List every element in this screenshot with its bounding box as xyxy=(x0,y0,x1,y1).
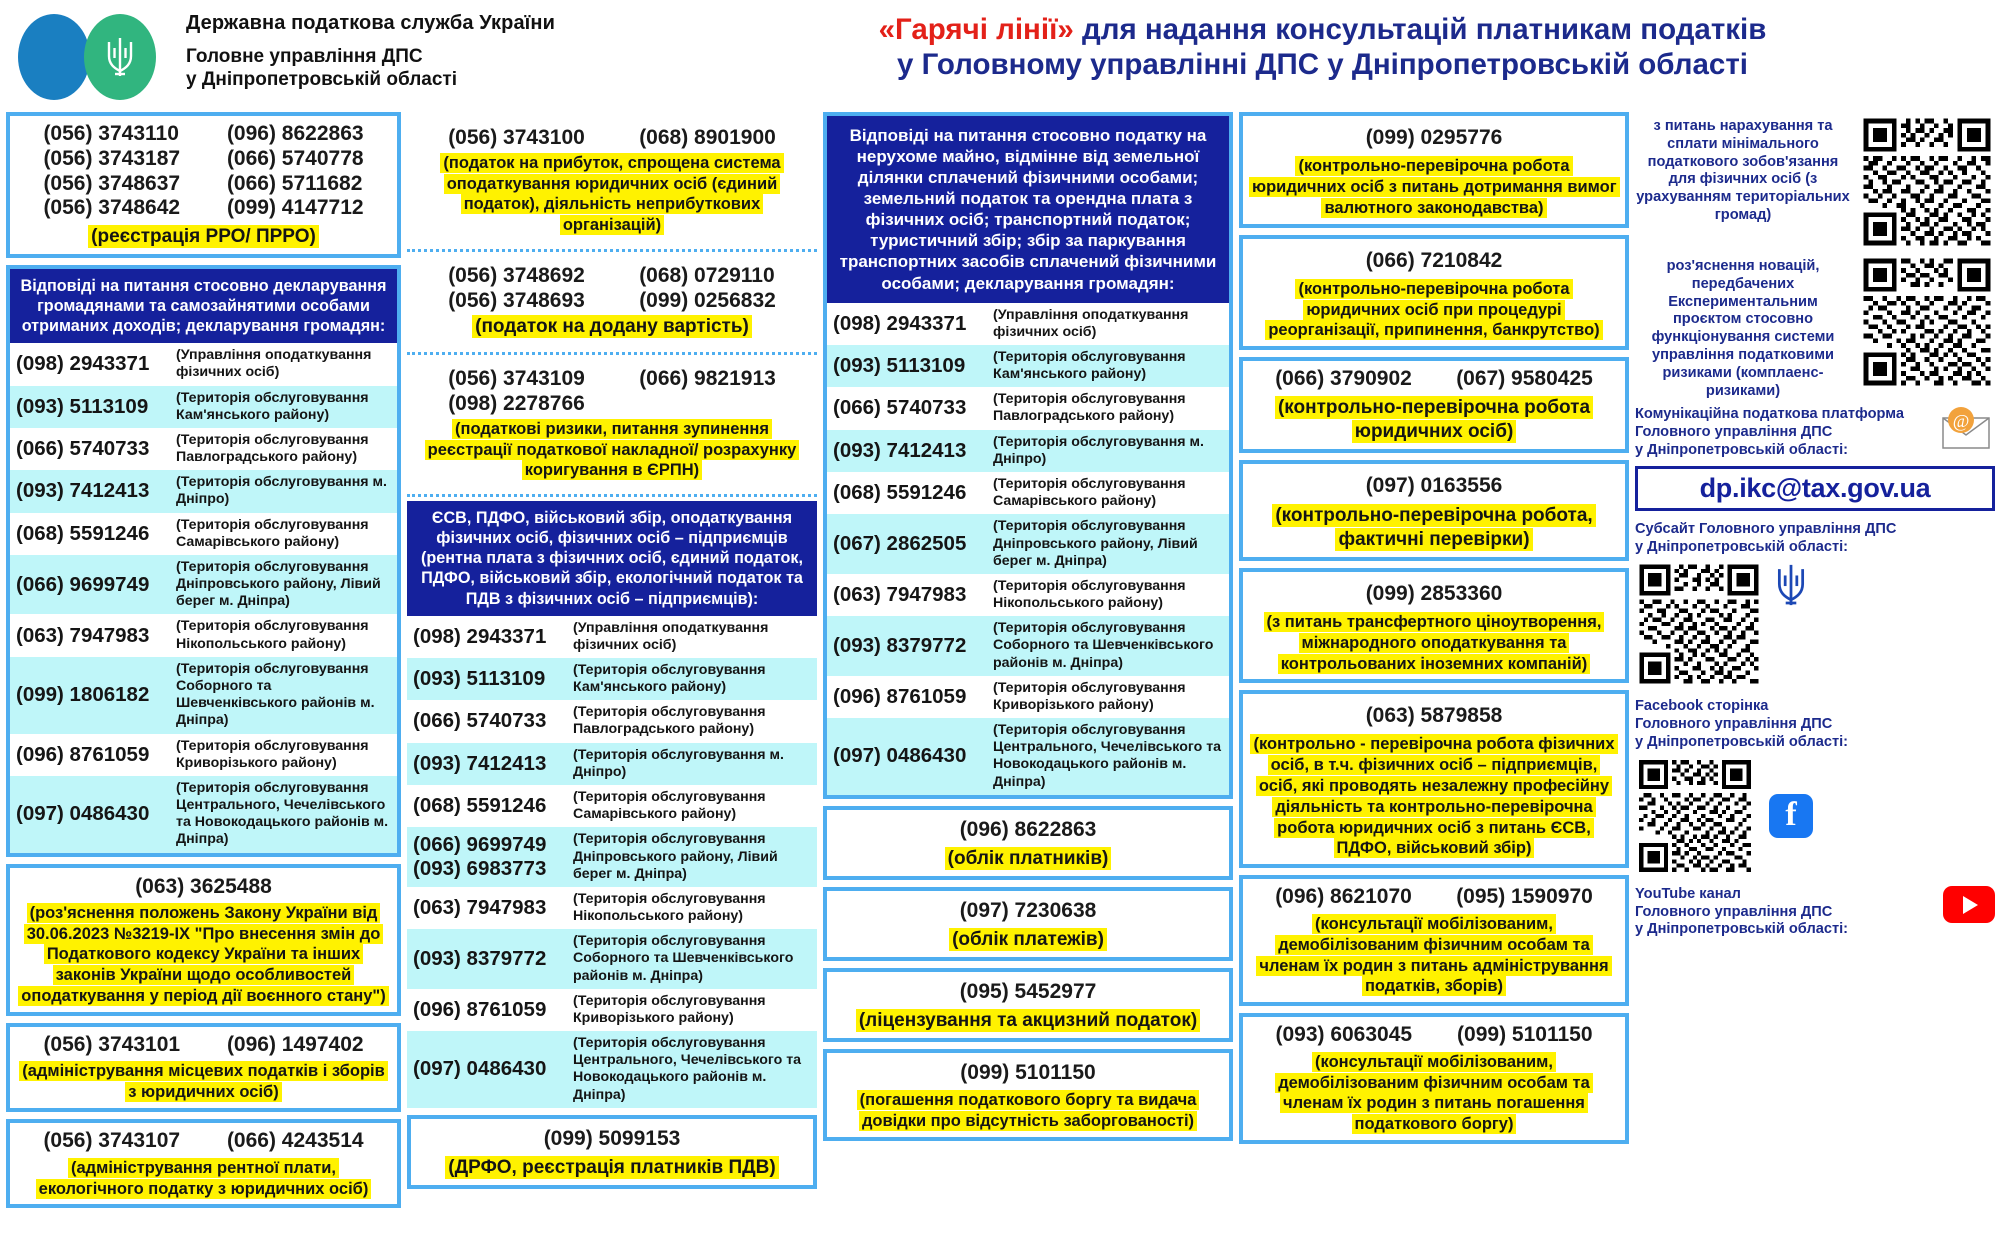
row-description: (Територія обслуговування Кам'янського р… xyxy=(176,390,391,424)
table-row: (093) 7412413(Територія обслуговування м… xyxy=(827,430,1229,472)
table-row: (068) 5591246(Територія обслуговування С… xyxy=(407,785,817,827)
phone-number[interactable]: (099) 1806182 xyxy=(16,683,176,707)
law-card: (063) 3625488 (роз'яснення положень Зако… xyxy=(6,864,401,1016)
subsite-block: Субсайт Головного управління ДПС у Дніпр… xyxy=(1635,521,1995,689)
qr-code-subsite[interactable] xyxy=(1635,560,1763,688)
org-title-line1: Державна податкова служба України xyxy=(186,12,555,35)
qr-compliance-block: роз'яснення новацій, передбачених Експер… xyxy=(1635,254,1995,400)
declaration-card: Відповіді на питання стосовно декларуван… xyxy=(6,265,401,857)
rent-taxes-card: (056) 3743107 (066) 4243514 (адмініструв… xyxy=(6,1119,401,1208)
subsite-text-b: у Дніпропетровській області: xyxy=(1635,539,1995,557)
mobilized-debt-card: (093) 6063045 (099) 5101150 (консультаці… xyxy=(1239,1013,1629,1144)
phone-number[interactable]: (063) 3625488 xyxy=(10,868,397,901)
org-title-line2a: Головне управління ДПС xyxy=(186,45,555,68)
phone-number[interactable]: (099) 2853360 xyxy=(1243,572,1625,610)
email-address[interactable]: dp.ikc@tax.gov.ua xyxy=(1635,466,1995,511)
rro-caption: (реєстрація РРО/ ПРРО) xyxy=(10,223,397,254)
row-description: (Територія обслуговування Криворізького … xyxy=(993,680,1223,714)
table-row: (096) 8761059(Територія обслуговування К… xyxy=(827,676,1229,718)
youtube-text-c: у Дніпропетровській області: xyxy=(1635,921,1933,939)
phone-number[interactable]: (063) 7947983 xyxy=(16,624,176,648)
facebook-block: Facebook сторінка Головного управління Д… xyxy=(1635,698,1995,875)
rro-phones: (056) 3743110 (056) 3743187 (056) 374863… xyxy=(10,116,397,223)
property-tax-card: Відповіді на питання стосовно податку на… xyxy=(823,112,1233,799)
phone-number[interactable]: (056) 3743187 xyxy=(43,147,180,172)
subsite-text-a: Субсайт Головного управління ДПС xyxy=(1635,521,1995,539)
tax-risks-section: (056) 3743109 (098) 2278766 (066) 982191… xyxy=(407,352,817,494)
declaration-header: Відповіді на питання стосовно декларуван… xyxy=(10,269,397,343)
table-row: (098) 2943371(Управління оподаткування ф… xyxy=(827,303,1229,345)
row-description: (Територія обслуговування Соборного та Ш… xyxy=(573,933,811,985)
phone-number[interactable]: (066) 7210842 xyxy=(1243,239,1625,277)
vat-section: (056) 3748692 (056) 3748693 (068) 072911… xyxy=(407,249,817,352)
dotted-divider xyxy=(407,494,817,497)
phone-number[interactable]: (099) 5101150 xyxy=(827,1053,1229,1088)
qr-code-min-tax[interactable] xyxy=(1859,114,1995,250)
phone-number[interactable]: (068) 8901900 xyxy=(639,126,776,151)
rent-phones: (056) 3743107 (066) 4243514 xyxy=(10,1123,397,1156)
phone-number[interactable]: (063) 5879858 xyxy=(1243,694,1625,732)
row-description: (Управління оподаткування фізичних осіб) xyxy=(176,347,391,381)
phone-number[interactable]: (095) 5452977 xyxy=(827,972,1229,1007)
table-row: (093) 7412413(Територія обслуговування м… xyxy=(407,743,817,785)
phone-number[interactable]: (096) 8622863 xyxy=(227,122,364,147)
table-row: (066) 5740733(Територія обслуговування П… xyxy=(407,700,817,742)
phone-number[interactable]: (096) 1497402 xyxy=(227,1033,364,1058)
table-row: (096) 8761059(Територія обслуговування К… xyxy=(407,989,817,1031)
table-row: (068) 5591246(Територія обслуговування С… xyxy=(10,513,397,555)
phone-number[interactable]: (097) 0486430 xyxy=(413,1057,573,1081)
qr-code-compliance[interactable] xyxy=(1859,254,1995,390)
col2-top-sections: (056) 3743100 (068) 8901900 (податок на … xyxy=(407,112,817,1108)
row-description: (Територія обслуговування Соборного та Ш… xyxy=(176,661,391,730)
transfer-pricing-card: (099) 2853360 (з питань трансфертного ці… xyxy=(1239,568,1629,684)
debt-caption: (погашення податкового боргу та видача д… xyxy=(827,1088,1229,1137)
table-row: (066) 5740733(Територія обслуговування П… xyxy=(10,428,397,470)
row-description: (Територія обслуговування Самарівського … xyxy=(176,517,391,551)
phone-number[interactable]: (066) 5740778 xyxy=(227,147,364,172)
phone-number[interactable]: (066) 3790902 xyxy=(1275,367,1412,392)
facebook-text-b: Головного управління ДПС xyxy=(1635,716,1995,734)
qr-min-tax-block: з питань нарахування та сплати мінімальн… xyxy=(1635,114,1995,250)
column-2: (056) 3743100 (068) 8901900 (податок на … xyxy=(407,112,817,1257)
phone-number[interactable]: (066) 5740733 xyxy=(16,437,176,461)
table-row: (098) 2943371(Управління оподаткування ф… xyxy=(407,616,817,658)
phone-number[interactable]: (093) 7412413 xyxy=(16,479,176,503)
legal-entity-control-card: (066) 3790902 (067) 9580425 (контрольно-… xyxy=(1239,357,1629,453)
mobilized-consult-caption: (консультації мобілізованим, демобілізов… xyxy=(1243,912,1625,1002)
table-row: (093) 8379772(Територія обслуговування С… xyxy=(407,929,817,989)
row-description: (Територія обслуговування Дніпровського … xyxy=(573,831,811,883)
phone-number[interactable]: (066) 5740733 xyxy=(833,396,993,420)
phone-number[interactable]: (056) 3748693 xyxy=(448,289,585,314)
phone-number[interactable]: (097) 0486430 xyxy=(833,744,993,768)
row-description: (Територія обслуговування Павлоградськог… xyxy=(993,391,1223,425)
table-row: (093) 5113109(Територія обслуговування К… xyxy=(827,345,1229,387)
table-row: (093) 5113109(Територія обслуговування К… xyxy=(407,658,817,700)
licensing-caption: (ліцензування та акцизний податок) xyxy=(827,1007,1229,1038)
drfo-caption: (ДРФО, реєстрація платників ПДВ) xyxy=(411,1154,813,1185)
phone-number[interactable]: (068) 0729110 xyxy=(639,264,776,289)
phone-number[interactable]: (098) 2278766 xyxy=(448,392,585,417)
declaration-rows: (098) 2943371(Управління оподаткування ф… xyxy=(10,343,397,852)
phone-number[interactable]: (093) 6063045 xyxy=(1275,1023,1412,1048)
col3-blue-header: Відповіді на питання стосовно податку на… xyxy=(827,116,1229,303)
org-name: Державна податкова служба України Головн… xyxy=(186,12,555,91)
row-description: (Територія обслуговування м. Дніпро) xyxy=(176,474,391,508)
title-quoted: «Гарячі лінії» xyxy=(879,13,1074,46)
platform-text-a: Комунікаційна податкова платформа xyxy=(1635,406,1933,424)
phone-number[interactable]: (066) 5711682 xyxy=(227,172,364,197)
qr-min-tax-text: з питань нарахування та сплати мінімальн… xyxy=(1635,114,1851,225)
taxpayer-registry-card: (096) 8622863 (облік платників) xyxy=(823,806,1233,880)
phone-number[interactable]: (099) 0295776 xyxy=(1243,116,1625,154)
table-row: (099) 1806182(Територія обслуговування С… xyxy=(10,657,397,734)
row-description: (Територія обслуговування Нікопольського… xyxy=(176,618,391,652)
currency-control-caption: (контрольно-перевірочна робота юридичних… xyxy=(1243,154,1625,223)
facebook-icon[interactable]: f xyxy=(1769,794,1813,838)
svg-text:@: @ xyxy=(1953,411,1970,431)
phone-number[interactable]: (068) 5591246 xyxy=(833,481,993,505)
taxpayer-registry-caption: (облік платників) xyxy=(827,845,1229,876)
phone-number[interactable]: (056) 3743110 xyxy=(43,122,180,147)
table-row: (096) 8761059(Територія обслуговування К… xyxy=(10,734,397,776)
phone-number[interactable]: (056) 3743107 xyxy=(43,1129,180,1154)
row-description: (Територія обслуговування Дніпровського … xyxy=(176,559,391,611)
row-description: (Територія обслуговування м. Дніпро) xyxy=(993,434,1223,468)
table-row: (063) 7947983(Територія обслуговування Н… xyxy=(10,614,397,656)
row-description: (Територія обслуговування Нікопольського… xyxy=(573,891,811,925)
local-caption: (адміністрування місцевих податків і збо… xyxy=(10,1059,397,1108)
table-row: (063) 7947983(Територія обслуговування Н… xyxy=(827,574,1229,616)
payments-registry-card: (097) 7230638 (облік платежів) xyxy=(823,887,1233,961)
table-row: (066) 5740733(Територія обслуговування П… xyxy=(827,387,1229,429)
licensing-card: (095) 5452977 (ліцензування та акцизний … xyxy=(823,968,1233,1042)
row-description: (Управління оподаткування фізичних осіб) xyxy=(573,620,811,654)
qr-code-facebook[interactable] xyxy=(1635,756,1755,876)
table-row: (097) 0486430(Територія обслуговування Ц… xyxy=(407,1031,817,1108)
row-description: (Територія обслуговування Павлоградськог… xyxy=(176,432,391,466)
law-caption: (роз'яснення положень Закону України від… xyxy=(10,901,397,1012)
table-row: (066) 9699749 (093) 6983773(Територія об… xyxy=(407,827,817,887)
platform-text-b: Головного управління ДПС xyxy=(1635,424,1933,442)
youtube-text-b: Головного управління ДПС xyxy=(1635,904,1933,922)
logo-blue-circle-icon xyxy=(18,14,90,100)
phone-number[interactable]: (097) 0486430 xyxy=(16,802,176,826)
row-description: (Територія обслуговування м. Дніпро) xyxy=(573,747,811,781)
payments-registry-caption: (облік платежів) xyxy=(827,926,1229,957)
row-description: (Територія обслуговування Нікопольського… xyxy=(993,578,1223,612)
table-row: (067) 2862505(Територія обслуговування Д… xyxy=(827,514,1229,574)
column-4: (099) 0295776 (контрольно-перевірочна ро… xyxy=(1239,112,1629,1257)
phone-number[interactable]: (066) 5740733 xyxy=(413,709,573,733)
row-description: (Територія обслуговування Самарівського … xyxy=(573,789,811,823)
phone-number[interactable]: (093) 5113109 xyxy=(413,667,573,691)
legal-entity-control-caption: (контрольно-перевірочна робота юридичних… xyxy=(1243,394,1625,449)
row-description: (Територія обслуговування Соборного та Ш… xyxy=(993,620,1223,672)
platform-block: Комунікаційна податкова платформа Головн… xyxy=(1635,406,1995,459)
phone-number[interactable]: (063) 7947983 xyxy=(413,896,573,920)
facebook-text-c: у Дніпропетровській області: xyxy=(1635,734,1995,752)
title-rest: для надання консультацій платникам подат… xyxy=(1074,13,1767,46)
table-row: (097) 0486430(Територія обслуговування Ц… xyxy=(10,776,397,853)
logo-green-circle-icon xyxy=(84,14,156,100)
row-description: (Територія обслуговування Центрального, … xyxy=(993,722,1223,791)
youtube-text-a: YouTube канал xyxy=(1635,886,1933,904)
phone-number[interactable]: (093) 7412413 xyxy=(413,752,573,776)
phone-number[interactable]: (093) 8379772 xyxy=(833,634,993,658)
facebook-text-a: Facebook сторінка xyxy=(1635,698,1995,716)
reorganization-control-caption: (контрольно-перевірочна робота юридичних… xyxy=(1243,277,1625,346)
phone-number[interactable]: (097) 7230638 xyxy=(827,891,1229,926)
table-row: (093) 7412413(Територія обслуговування м… xyxy=(10,470,397,512)
phone-number[interactable]: (099) 4147712 xyxy=(227,196,364,221)
phone-number[interactable]: (067) 2862505 xyxy=(833,532,993,556)
phone-number[interactable]: (095) 1590970 xyxy=(1456,885,1593,910)
transfer-pricing-caption: (з питань трансфертного ціноутворення, м… xyxy=(1243,610,1625,679)
email-icon: @ xyxy=(1939,406,1995,452)
qr-compliance-text: роз'яснення новацій, передбачених Експер… xyxy=(1635,254,1851,400)
phone-number[interactable]: (093) 5113109 xyxy=(833,354,993,378)
phone-number[interactable]: (099) 5101150 xyxy=(1457,1023,1592,1048)
phone-number[interactable]: (056) 3748642 xyxy=(43,196,180,221)
logo xyxy=(18,10,178,102)
individual-control-caption: (контрольно - перевірочна робота фізични… xyxy=(1243,732,1625,864)
phone-number[interactable]: (068) 5591246 xyxy=(16,522,176,546)
phone-number[interactable]: (098) 2943371 xyxy=(16,352,176,376)
mobilized-consult-card: (096) 8621070 (095) 1590970 (консультаці… xyxy=(1239,875,1629,1006)
column-1: (056) 3743110 (056) 3743187 (056) 374863… xyxy=(6,112,401,1257)
phone-number[interactable]: (099) 5099153 xyxy=(411,1119,813,1154)
phone-number[interactable]: (056) 3743100 xyxy=(448,126,585,151)
row-description: (Територія обслуговування Павлоградськог… xyxy=(573,704,811,738)
phone-number[interactable]: (096) 8621070 xyxy=(1275,885,1412,910)
row-description: (Територія обслуговування Дніпровського … xyxy=(993,518,1223,570)
platform-text-c: у Дніпропетровській області: xyxy=(1635,442,1933,460)
profit-tax-section: (056) 3743100 (068) 8901900 (податок на … xyxy=(407,112,817,249)
table-row: (097) 0486430(Територія обслуговування Ц… xyxy=(827,718,1229,795)
mobilized-debt-caption: (консультації мобілізованим, демобілізов… xyxy=(1243,1050,1625,1140)
row-description: (Територія обслуговування Криворізького … xyxy=(573,993,811,1027)
tryzub-emblem-icon xyxy=(1773,560,1809,610)
column-5-sidebar: з питань нарахування та сплати мінімальн… xyxy=(1635,112,1995,1257)
phone-number[interactable]: (098) 2943371 xyxy=(833,312,993,336)
phone-number[interactable]: (067) 9580425 xyxy=(1456,367,1593,392)
table-row: (098) 2943371(Управління оподаткування ф… xyxy=(10,343,397,385)
table-row: (066) 9699749(Територія обслуговування Д… xyxy=(10,555,397,615)
org-title-line2b: у Дніпропетровській області xyxy=(186,68,555,91)
phone-number[interactable]: (099) 0256832 xyxy=(639,289,776,314)
phone-number[interactable]: (096) 8761059 xyxy=(16,743,176,767)
phone-number[interactable]: (056) 3748637 xyxy=(43,172,180,197)
row-description: (Територія обслуговування Криворізького … xyxy=(176,738,391,772)
vat-caption: (податок на додану вартість) xyxy=(411,313,813,344)
table-row: (063) 7947983(Територія обслуговування Н… xyxy=(407,887,817,929)
local-taxes-card: (056) 3743101 (096) 1497402 (адмініструв… xyxy=(6,1023,401,1112)
phone-number[interactable]: (066) 9699749 (093) 6983773 xyxy=(413,833,573,881)
row-description: (Територія обслуговування Центрального, … xyxy=(573,1035,811,1104)
youtube-block: YouTube канал Головного управління ДПС у… xyxy=(1635,886,1995,939)
phone-number[interactable]: (056) 3743109 xyxy=(448,367,585,392)
table-row: (093) 5113109(Територія обслуговування К… xyxy=(10,386,397,428)
reorganization-control-card: (066) 7210842 (контрольно-перевірочна ро… xyxy=(1239,235,1629,351)
phone-number[interactable]: (096) 8622863 xyxy=(827,810,1229,845)
drfo-card: (099) 5099153 (ДРФО, реєстрація платникі… xyxy=(407,1115,817,1189)
individual-control-card: (063) 5879858 (контрольно - перевірочна … xyxy=(1239,690,1629,868)
row-description: (Територія обслуговування Центрального, … xyxy=(176,780,391,849)
local-phones: (056) 3743101 (096) 1497402 xyxy=(10,1027,397,1060)
row-description: (Територія обслуговування Кам'янського р… xyxy=(993,349,1223,383)
col2-rows: (098) 2943371(Управління оподаткування ф… xyxy=(407,616,817,1108)
table-row: (068) 5591246(Територія обслуговування С… xyxy=(827,472,1229,514)
phone-number[interactable]: (098) 2943371 xyxy=(413,625,573,649)
phone-number[interactable]: (096) 8761059 xyxy=(833,685,993,709)
infographic-page: Державна податкова служба України Головн… xyxy=(0,0,2000,1257)
phone-number[interactable]: (063) 7947983 xyxy=(833,583,993,607)
currency-control-card: (099) 0295776 (контрольно-перевірочна ро… xyxy=(1239,112,1629,228)
actual-checks-caption: (контрольно-перевірочна робота, фактичні… xyxy=(1243,502,1625,557)
col3-rows: (098) 2943371(Управління оподаткування ф… xyxy=(827,303,1229,795)
phone-number[interactable]: (093) 7412413 xyxy=(833,439,993,463)
row-description: (Територія обслуговування Самарівського … xyxy=(993,476,1223,510)
row-description: (Територія обслуговування Кам'янського р… xyxy=(573,662,811,696)
phone-number[interactable]: (056) 3748692 xyxy=(448,264,585,289)
col2-blue-header: ЄСВ, ПДФО, військовий збір, оподаткуванн… xyxy=(407,501,817,615)
tryzub-icon xyxy=(103,34,137,80)
table-row: (093) 8379772(Територія обслуговування С… xyxy=(827,616,1229,676)
youtube-icon[interactable] xyxy=(1943,886,1995,923)
page-header: Державна податкова служба України Головн… xyxy=(0,0,2000,112)
row-description: (Управління оподаткування фізичних осіб) xyxy=(993,307,1223,341)
title-line2: у Головному управлінні ДПС у Дніпропетро… xyxy=(650,47,1995,82)
actual-checks-card: (097) 0163556 (контрольно-перевірочна ро… xyxy=(1239,460,1629,561)
debt-card: (099) 5101150 (погашення податкового бор… xyxy=(823,1049,1233,1141)
phone-number[interactable]: (097) 0163556 xyxy=(1243,464,1625,502)
page-title: «Гарячі лінії» для надання консультацій … xyxy=(650,12,1995,83)
phone-number[interactable]: (066) 9821913 xyxy=(639,367,776,392)
profit-tax-caption: (податок на прибуток, спрощена система о… xyxy=(411,151,813,241)
phone-number[interactable]: (066) 4243514 xyxy=(227,1129,364,1154)
phone-number[interactable]: (056) 3743101 xyxy=(43,1033,180,1058)
tax-risks-caption: (податкові ризики, питання зупинення реє… xyxy=(411,417,813,486)
phone-number[interactable]: (068) 5591246 xyxy=(413,794,573,818)
phone-number[interactable]: (093) 8379772 xyxy=(413,947,573,971)
columns-area: (056) 3743110 (056) 3743187 (056) 374863… xyxy=(0,112,2000,1257)
phone-number[interactable]: (066) 9699749 xyxy=(16,573,176,597)
column-3: Відповіді на питання стосовно податку на… xyxy=(823,112,1233,1257)
phone-number[interactable]: (093) 5113109 xyxy=(16,395,176,419)
rro-card: (056) 3743110 (056) 3743187 (056) 374863… xyxy=(6,112,401,258)
rent-caption: (адміністрування рентної плати, екологіч… xyxy=(10,1156,397,1205)
phone-number[interactable]: (096) 8761059 xyxy=(413,998,573,1022)
